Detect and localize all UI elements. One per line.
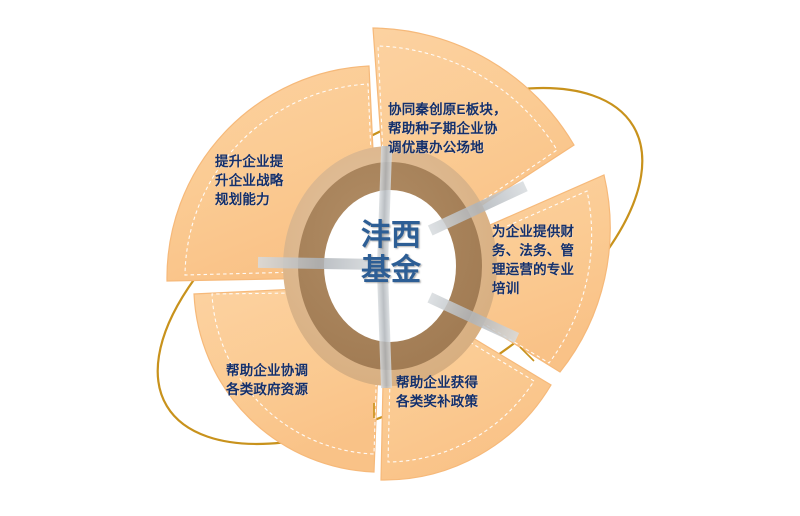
radial-diagram-graphic (0, 0, 800, 516)
divider-left (258, 257, 380, 270)
diagram-canvas: 协同秦创原E板块， 帮助种子期企业协 调优惠办公场地 为企业提供财 务、法务、管… (0, 0, 800, 516)
